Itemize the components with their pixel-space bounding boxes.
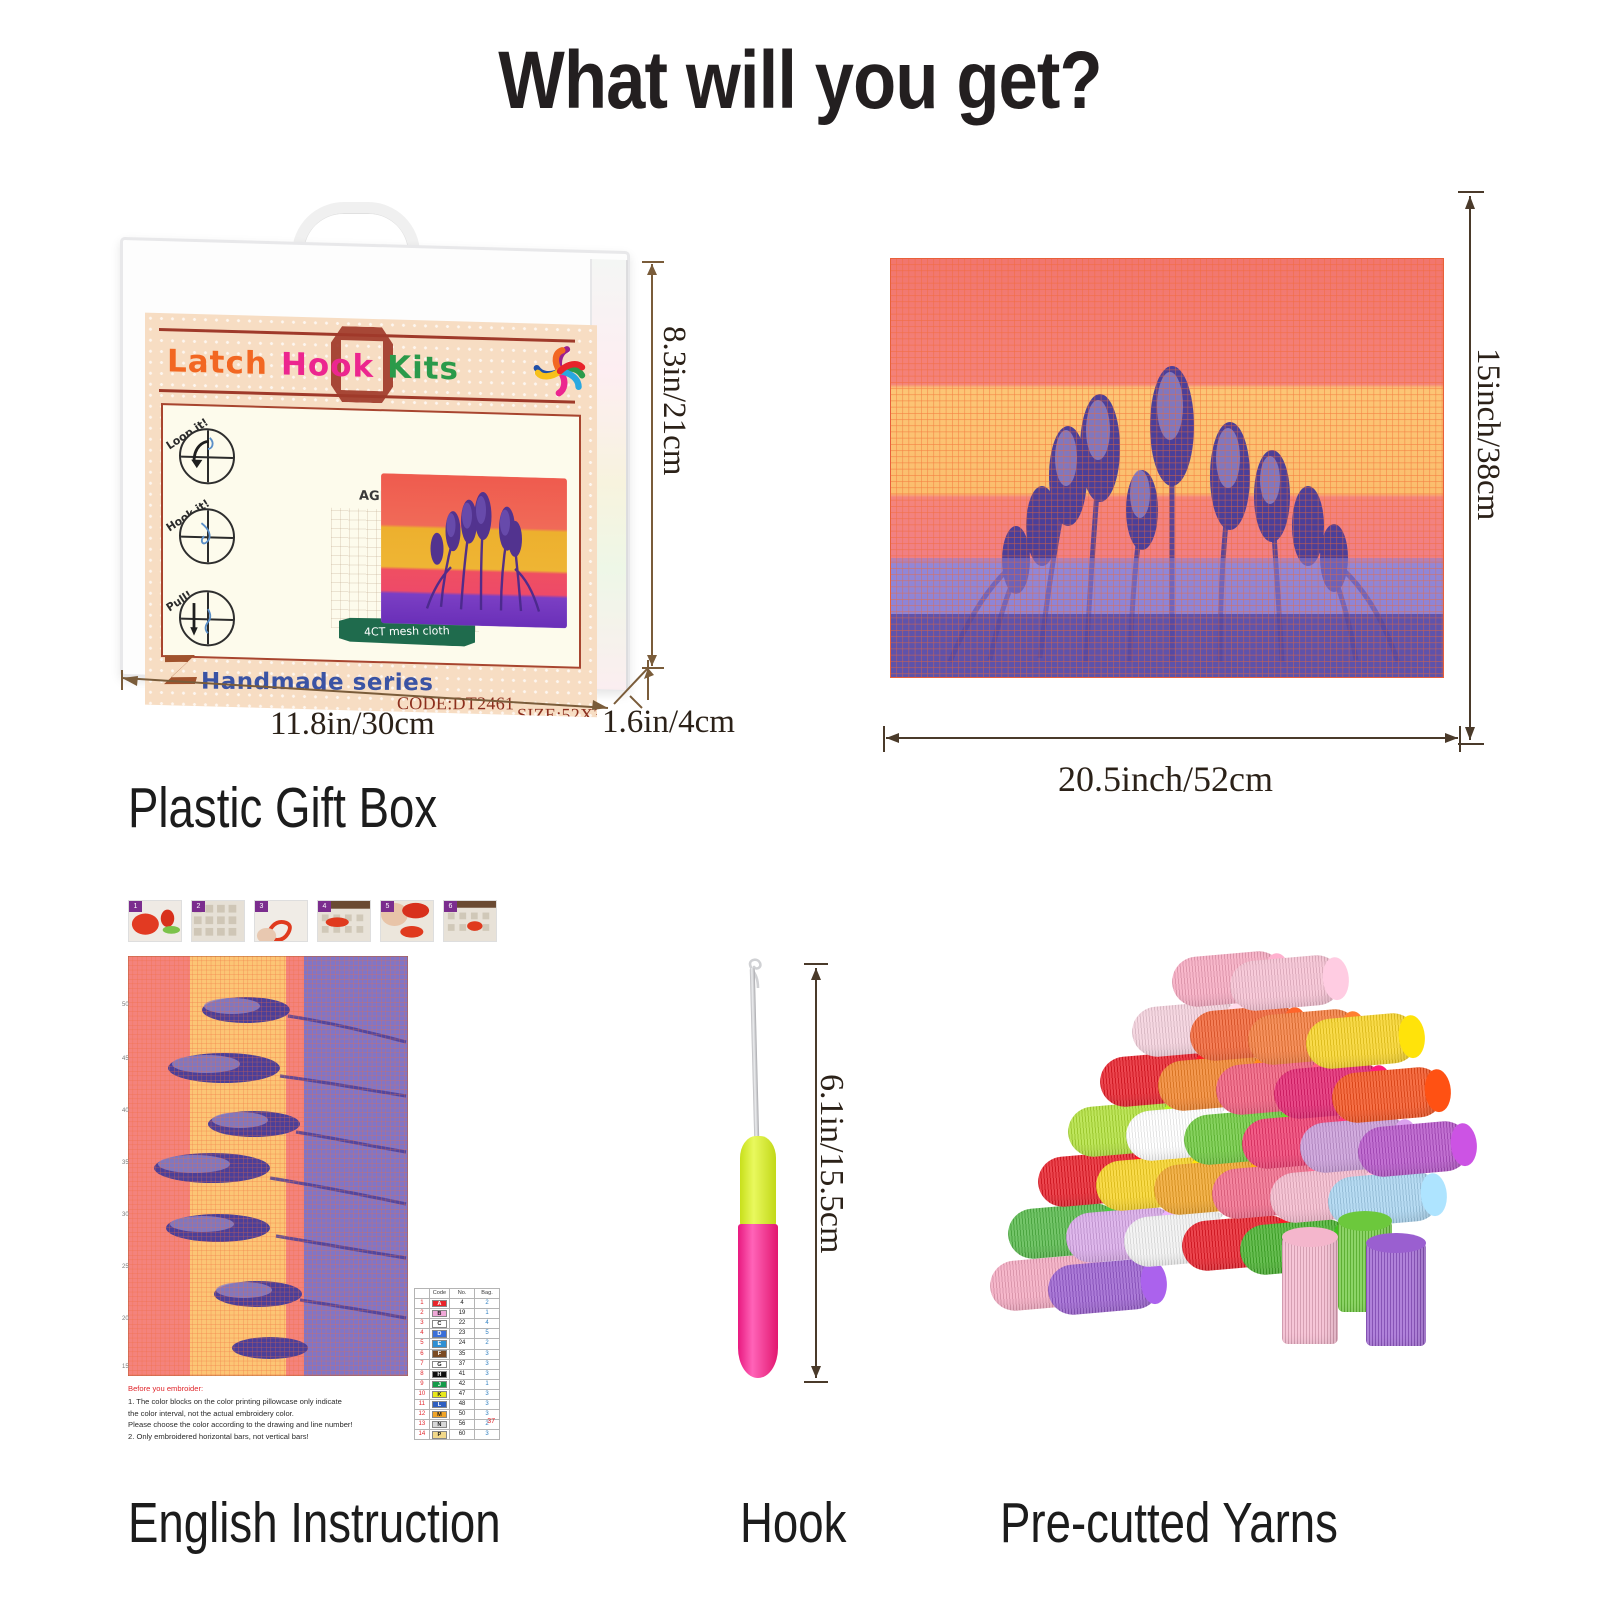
- finished-rug-preview: [381, 473, 567, 628]
- thumb-badge: 1: [129, 901, 142, 912]
- step-circle-hook: [179, 508, 235, 566]
- legend-number: 37: [450, 1359, 475, 1369]
- legend-header-index: [415, 1289, 430, 1299]
- legend-swatch: J: [429, 1379, 449, 1389]
- pinwheel-logo: [531, 341, 589, 401]
- thumb-badge: 6: [444, 901, 457, 912]
- legend-row: 2B191: [415, 1309, 500, 1319]
- legend-index: 9: [415, 1379, 430, 1389]
- legend-header-row: Code No. Bag.: [415, 1289, 500, 1299]
- thumb-badge: 4: [318, 901, 331, 912]
- legend-number: 41: [450, 1369, 475, 1379]
- legend-number: 19: [450, 1309, 475, 1319]
- legend-swatch: E: [429, 1339, 449, 1349]
- step-thumbnail: 1 1: [128, 900, 182, 942]
- legend-index: 2: [415, 1309, 430, 1319]
- row-tick: 50: [122, 1002, 129, 1008]
- legend-index: 6: [415, 1349, 430, 1359]
- hook-handle-upper: [740, 1136, 776, 1226]
- legend-row: 11L483: [415, 1400, 500, 1410]
- legend-bag: 3: [475, 1359, 500, 1369]
- legend-bag: 3: [475, 1349, 500, 1359]
- legend-swatch: D: [429, 1329, 449, 1339]
- brand-word-kits: Kits: [387, 349, 459, 387]
- legend-swatch: C: [429, 1319, 449, 1329]
- yarn-bundle: [1366, 1242, 1426, 1346]
- note-line-4: 2. Only embroidered horizontal bars, not…: [128, 1432, 309, 1441]
- gift-box-figure: Latch Hook Kits Loop it!: [110, 196, 650, 696]
- legend-header-bag: Bag.: [475, 1289, 500, 1299]
- legend-bag: 3: [475, 1369, 500, 1379]
- legend-number: 23: [450, 1329, 475, 1339]
- legend-bag: 4: [475, 1319, 500, 1329]
- brand-word-hook: Hook: [281, 346, 374, 385]
- pre-cutted-yarns-figure: [960, 920, 1460, 1390]
- hook-handle-lower: [738, 1224, 778, 1378]
- page-title: What will you get?: [112, 34, 1488, 128]
- row-tick: 45: [122, 1056, 129, 1062]
- legend-row: 14P603: [415, 1430, 500, 1440]
- legend-swatch: P: [429, 1430, 449, 1440]
- legend-index: 4: [415, 1329, 430, 1339]
- yarn-bundle: [1282, 1236, 1338, 1344]
- legend-header-code: Code: [429, 1289, 449, 1299]
- legend-bag: 5: [475, 1329, 500, 1339]
- legend-number: 35: [450, 1349, 475, 1359]
- legend-swatch: B: [429, 1309, 449, 1319]
- legend-bag: 3: [475, 1400, 500, 1410]
- legend-index: 8: [415, 1369, 430, 1379]
- legend-header-no: No.: [450, 1289, 475, 1299]
- legend-total-count: 37: [414, 1418, 500, 1425]
- mesh-canvas-image: [890, 258, 1444, 678]
- legend-row: 9J421: [415, 1379, 500, 1389]
- legend-number: 4: [450, 1299, 475, 1309]
- legend-number: 24: [450, 1339, 475, 1349]
- step-thumbnail: 3 3: [254, 900, 308, 942]
- legend-number: 47: [450, 1389, 475, 1399]
- printed-canvas-figure: 15inch/38cm 20.5inch/52cm: [860, 180, 1500, 800]
- legend-bag: 2: [475, 1339, 500, 1349]
- box-printed-label: Latch Hook Kits Loop it!: [145, 313, 597, 718]
- legend-index: 5: [415, 1339, 430, 1349]
- chart-row-ticks: 50 45 40 35 30 25 20 15: [122, 956, 130, 1376]
- step-thumbnail: 4 4: [317, 900, 371, 942]
- legend-row: 3C224: [415, 1319, 500, 1329]
- legend-number: 48: [450, 1400, 475, 1410]
- yarn-stick: [1228, 953, 1344, 1013]
- before-you-embroider-note: Before you embroider: 1. The color block…: [128, 1383, 396, 1443]
- english-instruction-figure: 1 1 2 2: [122, 900, 512, 1480]
- hook-length-label: 6.1in/15.5cm: [812, 1074, 850, 1253]
- note-line-2: the color interval, not the actual embro…: [128, 1409, 294, 1418]
- caption-hook: Hook: [740, 1490, 846, 1556]
- pattern-chart-grid: [128, 956, 408, 1376]
- caption-pre-cutted-yarns: Pre-cutted Yarns: [1000, 1490, 1338, 1556]
- legend-swatch: A: [429, 1299, 449, 1309]
- thumb-badge: 5: [381, 901, 394, 912]
- label-inner-panel: Loop it! Hook it! Pull!: [161, 403, 581, 669]
- hook-figure: 6.1in/15.5cm: [690, 950, 860, 1420]
- canvas-height-label: 15inch/38cm: [1469, 348, 1506, 520]
- legend-number: 22: [450, 1319, 475, 1329]
- legend-bag: 1: [475, 1309, 500, 1319]
- legend-number: 42: [450, 1379, 475, 1389]
- plastic-box-body: Latch Hook Kits Loop it!: [120, 237, 630, 691]
- legend-swatch: L: [429, 1400, 449, 1410]
- brand-title: Latch Hook Kits: [167, 335, 507, 396]
- legend-swatch: K: [429, 1389, 449, 1399]
- mesh-banner-label: 4CT mesh cloth: [364, 624, 450, 638]
- thumb-badge: 3: [255, 901, 268, 912]
- row-tick: 35: [122, 1160, 129, 1166]
- legend-index: 7: [415, 1359, 430, 1369]
- legend-row: 4D235: [415, 1329, 500, 1339]
- step-thumbnail: 5 5: [380, 900, 434, 942]
- legend-bag: 1: [475, 1379, 500, 1389]
- step-circle-pull: [179, 590, 235, 648]
- box-depth-label: 1.6in/4cm: [602, 704, 735, 741]
- legend-swatch: G: [429, 1359, 449, 1369]
- legend-index: 14: [415, 1430, 430, 1440]
- thumb-badge: 2: [192, 901, 205, 912]
- yarn-stick: [1330, 1065, 1446, 1125]
- box-height-label: 8.3in/21cm: [655, 326, 692, 475]
- row-tick: 40: [122, 1108, 129, 1114]
- note-line-1: 1. The color blocks on the color printin…: [128, 1397, 342, 1406]
- box-width-label: 11.8in/30cm: [270, 706, 435, 743]
- legend-bag: 2: [475, 1299, 500, 1309]
- legend-row: 7G373: [415, 1359, 500, 1369]
- legend-row: 6F353: [415, 1349, 500, 1359]
- step-circle-loop: [179, 428, 235, 486]
- legend-swatch: F: [429, 1349, 449, 1359]
- legend-index: 1: [415, 1299, 430, 1309]
- legend-number: 60: [450, 1430, 475, 1440]
- hook-barb-icon: [744, 958, 768, 988]
- row-tick: 30: [122, 1212, 129, 1218]
- yarn-stick: [1304, 1011, 1420, 1071]
- legend-index: 11: [415, 1400, 430, 1410]
- legend-index: 3: [415, 1319, 430, 1329]
- brand-word-latch: Latch: [167, 343, 268, 382]
- legend-row: 8H413: [415, 1369, 500, 1379]
- legend-row: 1A42: [415, 1299, 500, 1309]
- legend-bag: 3: [475, 1389, 500, 1399]
- yarn-stick: [1356, 1119, 1472, 1179]
- legend-row: 10K473: [415, 1389, 500, 1399]
- legend-swatch: H: [429, 1369, 449, 1379]
- step-thumbnail-row: 1 1 2 2: [128, 900, 508, 948]
- row-tick: 15: [122, 1364, 129, 1370]
- canvas-width-label: 20.5inch/52cm: [1058, 758, 1273, 800]
- caption-plastic-gift-box: Plastic Gift Box: [128, 775, 437, 841]
- legend-row: 5E242: [415, 1339, 500, 1349]
- note-heading: Before you embroider:: [128, 1383, 396, 1395]
- hook-metal-shaft: [750, 968, 760, 1140]
- row-tick: 25: [122, 1264, 129, 1270]
- step-thumbnail: 2 2: [191, 900, 245, 942]
- step-thumbnail: 6 6: [443, 900, 497, 942]
- note-line-3: Please choose the color according to the…: [128, 1420, 353, 1429]
- caption-english-instruction: English Instruction: [128, 1490, 501, 1556]
- legend-bag: 3: [475, 1430, 500, 1440]
- row-tick: 20: [122, 1316, 129, 1322]
- canvas-width-dimension: [874, 718, 1474, 758]
- legend-index: 10: [415, 1389, 430, 1399]
